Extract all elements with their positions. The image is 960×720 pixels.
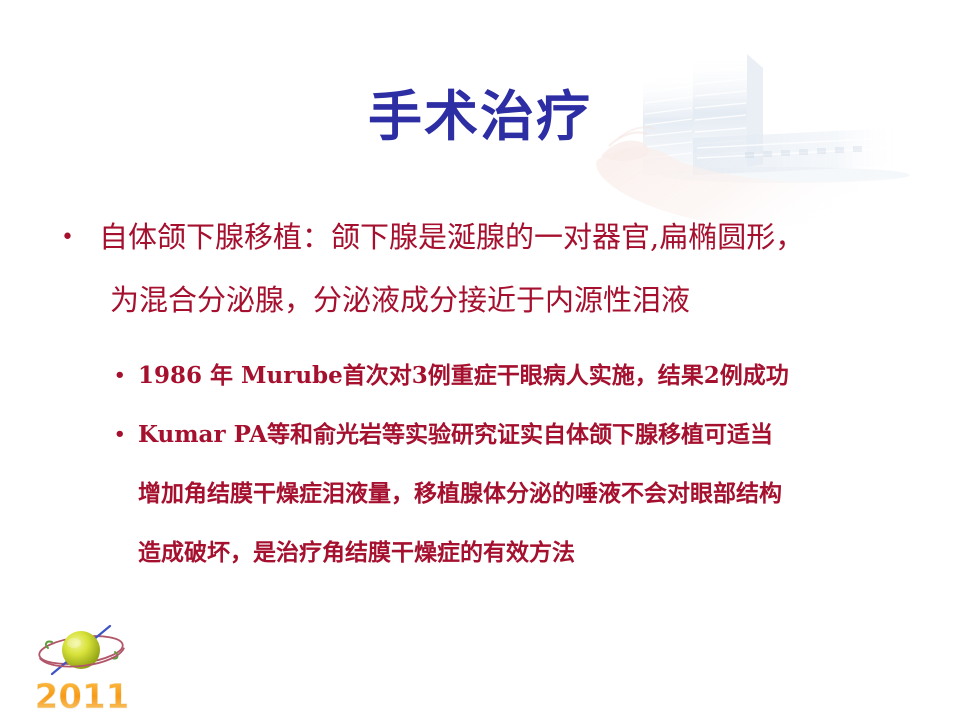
conference-logo: 2011 [18, 612, 146, 716]
bullet-level2-2-line-3: 造成破坏，是治疗角结膜干燥症的有效方法 [112, 523, 936, 582]
sub-bullet-marker-icon: • [114, 405, 126, 464]
bullet-item-level2-1: • 1986 年 Murube首次对3例重症干眼病人实施，结果2例成功 [112, 346, 936, 405]
bullet-level1-line-1: 自体颌下腺移植：颌下腺是涎腺的一对器官,扁椭圆形， [56, 206, 936, 269]
bullet-item-level2-2: • Kumar PA等和俞光岩等实验研究证实自体颌下腺移植可适当 增加角结膜干燥… [112, 405, 936, 582]
bullet-level1-line-2: 为混合分泌腺，分泌液成分接近于内源性泪液 [56, 269, 936, 332]
slide-body: • 自体颌下腺移植：颌下腺是涎腺的一对器官,扁椭圆形， 为混合分泌腺，分泌液成分… [56, 206, 936, 582]
sub-bullet-marker-icon: • [114, 346, 126, 405]
logo-year-text: 2011 [35, 677, 130, 716]
bullet-item-level1: • 自体颌下腺移植：颌下腺是涎腺的一对器官,扁椭圆形， 为混合分泌腺，分泌液成分… [56, 206, 936, 332]
slide-title: 手术治疗 [0, 86, 960, 148]
bullet-level2-1-line-1: 1986 年 Murube首次对3例重症干眼病人实施，结果2例成功 [112, 346, 936, 405]
sub-bullet-list: • 1986 年 Murube首次对3例重症干眼病人实施，结果2例成功 • Ku… [56, 346, 936, 582]
bullet-marker-icon: • [61, 206, 74, 269]
bullet-level2-2-line-2: 增加角结膜干燥症泪液量，移植腺体分泌的唾液不会对眼部结构 [112, 464, 936, 523]
bullet-level2-2-line-1: Kumar PA等和俞光岩等实验研究证实自体颌下腺移植可适当 [112, 405, 936, 464]
slide-canvas: 手术治疗 • 自体颌下腺移植：颌下腺是涎腺的一对器官,扁椭圆形， 为混合分泌腺，… [0, 0, 960, 720]
